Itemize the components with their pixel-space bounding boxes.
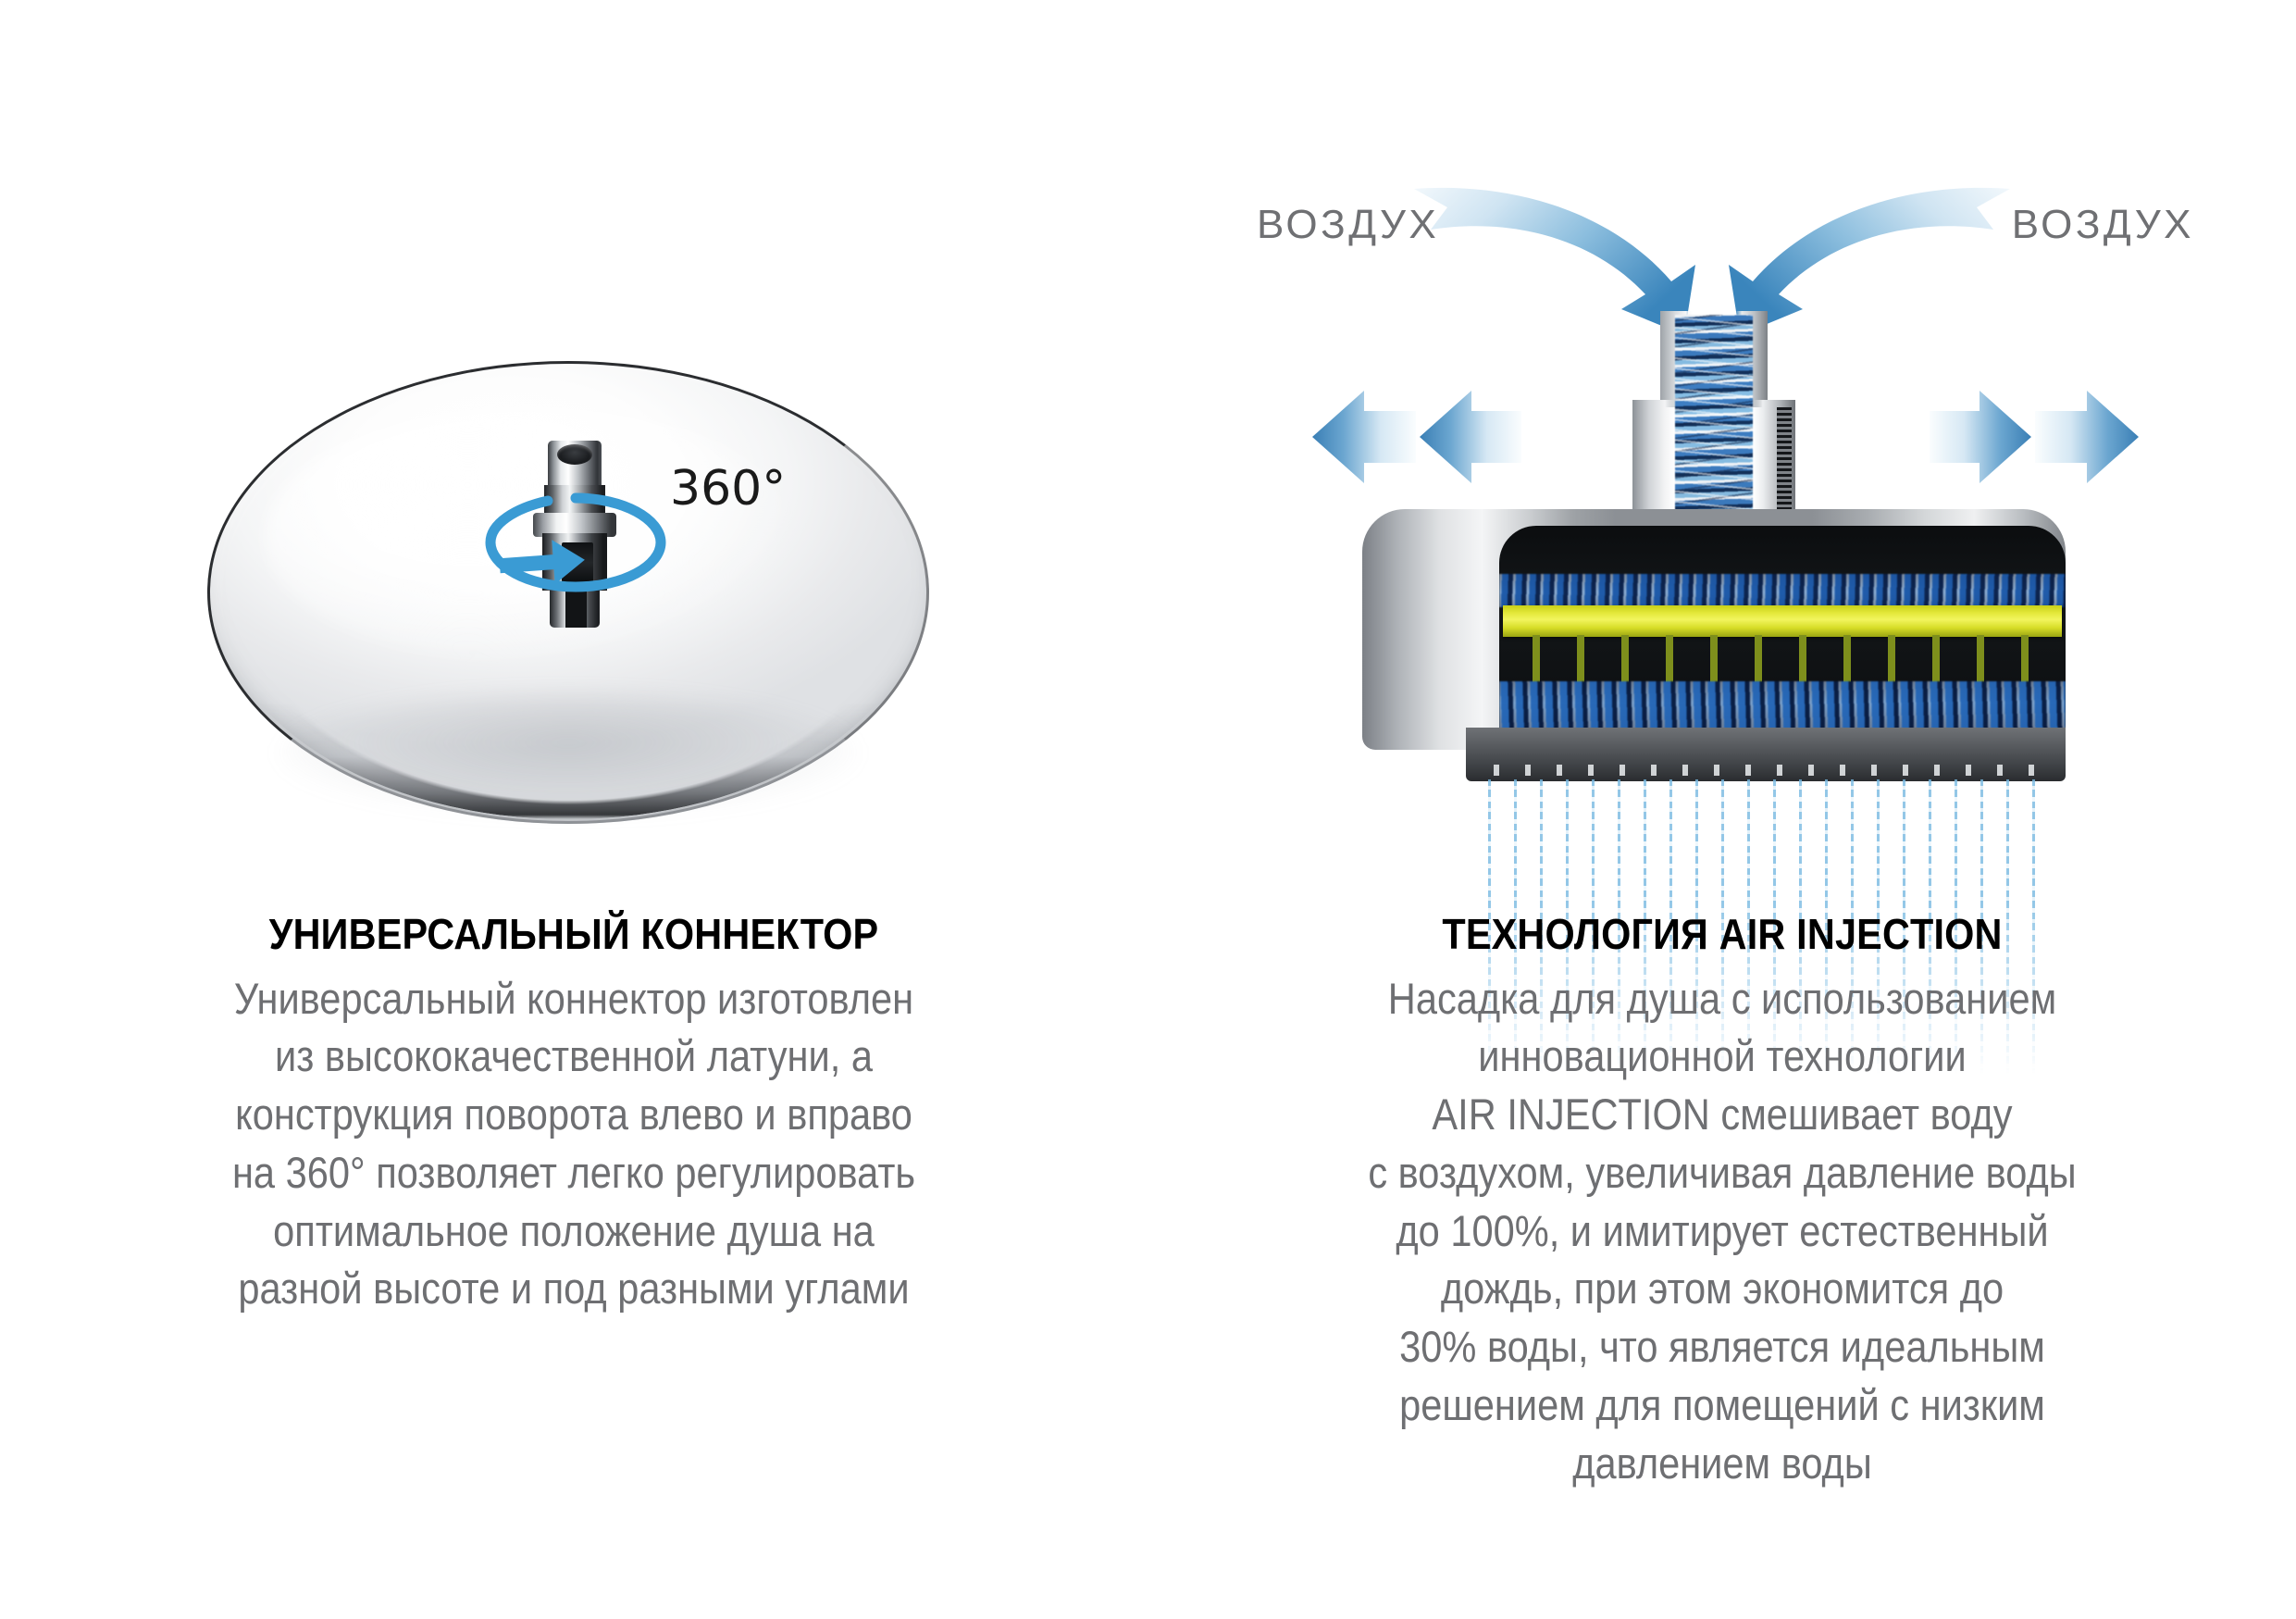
- figure-air-injection: ВОЗДУХ ВОЗДУХ: [1148, 167, 2296, 898]
- description-line: решением для помещений с низким: [1312, 1376, 2131, 1435]
- description-line: на 360° позволяет легко регулировать: [165, 1144, 984, 1202]
- description-line: Универсальный коннектор изготовлен: [165, 970, 984, 1028]
- panel-air-injection: ВОЗДУХ ВОЗДУХ: [1148, 0, 2296, 1619]
- panel-universal-connector: 360° УНИВЕРСАЛЬНЫЙ КОННЕКТОР Универсальн…: [0, 0, 1148, 1619]
- description-line: из высококачественной латуни, а: [165, 1027, 984, 1086]
- caption-air-injection: ТЕХНОЛОГИЯ AIR INJECTION Насадка для душ…: [1260, 912, 2185, 1492]
- cross-section-assembly: [1362, 311, 2066, 885]
- rotation-degree-label: 360°: [670, 461, 786, 517]
- description-line: конструкция поворота влево и вправо: [165, 1086, 984, 1144]
- cavity-water-lower: [1499, 681, 2066, 729]
- caption-universal-connector: УНИВЕРСАЛЬНЫЙ КОННЕКТОР Универсальный ко…: [111, 912, 1036, 1318]
- connector-bore: [557, 444, 592, 465]
- description-line: 30% воды, что является идеальным: [1312, 1318, 2131, 1376]
- infographic-page: 360° УНИВЕРСАЛЬНЫЙ КОННЕКТОР Универсальн…: [0, 0, 2296, 1619]
- shower-body-shell: [1362, 509, 2066, 750]
- inlet-water-swirl: [1675, 315, 1753, 533]
- description-line: Насадка для душа с использованием: [1312, 970, 2131, 1028]
- air-label-right: ВОЗДУХ: [2012, 202, 2194, 248]
- cavity-water-upper: [1499, 574, 2066, 607]
- inlet-thread-ridges: [1777, 407, 1792, 520]
- description-air-injection: Насадка для душа с использованием иннова…: [1312, 970, 2131, 1493]
- shower-head-disc: 360°: [207, 361, 929, 824]
- description-universal-connector: Универсальный коннектор изготовлен из вы…: [165, 970, 984, 1318]
- description-line: до 100%, и имитирует естественный: [1312, 1202, 2131, 1261]
- description-line: дождь, при этом экономится до: [1312, 1260, 2131, 1318]
- page-title-universal-connector: УНИВЕРСАЛЬНЫЙ КОННЕКТОР: [157, 912, 990, 957]
- page-title-air-injection: ТЕХНОЛОГИЯ AIR INJECTION: [1306, 912, 2139, 957]
- description-line: AIR INJECTION смешивает воду: [1312, 1086, 2131, 1144]
- figure-universal-connector: 360°: [0, 167, 1148, 898]
- nozzle-plate: [1503, 605, 2062, 637]
- description-line: оптимальное положение душа на: [165, 1202, 984, 1261]
- inlet-tube: [1632, 311, 1795, 537]
- description-line: инновационной технологии: [1312, 1027, 2131, 1086]
- description-line: разной высоте и под разными углами: [165, 1260, 984, 1318]
- rotation-arrow-icon: [483, 491, 668, 594]
- description-line: с воздухом, увеличивая давление воды: [1312, 1144, 2131, 1202]
- description-line: давлением воды: [1312, 1435, 2131, 1493]
- internal-cavity: [1499, 526, 2066, 750]
- outlet-faceplate: [1466, 728, 2066, 781]
